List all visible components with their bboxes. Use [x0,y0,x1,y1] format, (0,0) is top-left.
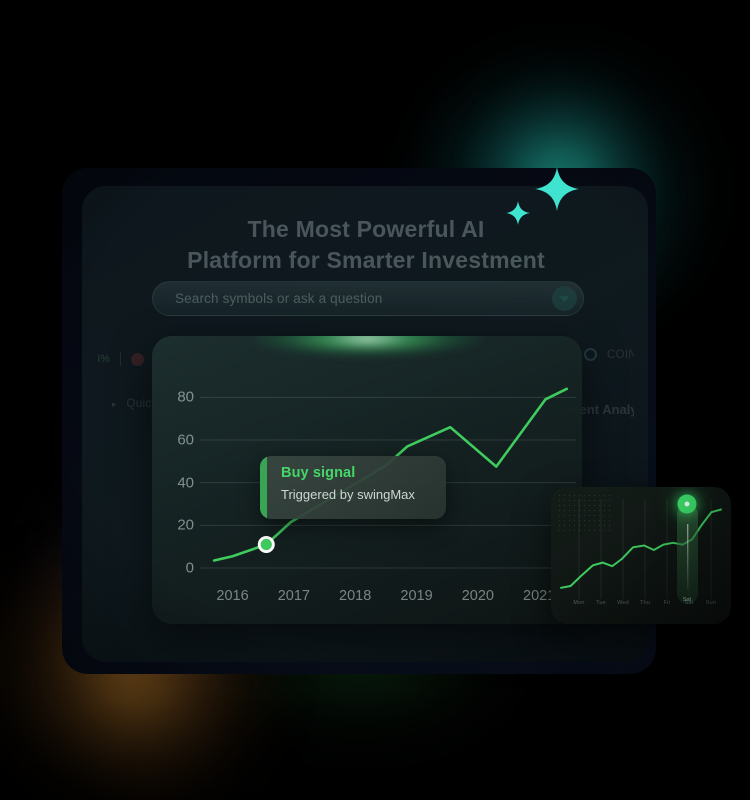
y-axis-tick: 0 [152,560,194,577]
mini-chart-day-label: Fri [663,600,670,606]
buy-signal-tooltip[interactable]: Buy signal Triggered by swingMax [260,456,446,519]
y-axis-tick: 20 [152,517,194,534]
sparkle-icon [533,165,581,213]
background-coin-icon [584,348,597,361]
slider-handle[interactable] [678,495,697,514]
slider-fill [687,524,689,590]
x-axis-tick: 2020 [462,588,494,604]
x-axis-tick: 2018 [339,588,371,604]
search-placeholder-text: Search symbols or ask a question [175,291,552,306]
tooltip-subtitle: Triggered by swingMax [281,487,415,502]
background-status-dot [131,353,144,366]
tooltip-title: Buy signal [281,465,415,481]
weekly-mini-card[interactable]: Sat MonTueWedThuFriSatSun [551,487,731,624]
x-axis-tick: 2016 [216,588,248,604]
day-slider-track[interactable] [677,504,698,604]
x-axis-tick: 2019 [400,588,432,604]
mini-chart-day-label: Wed [617,600,629,606]
page-title-line-1: The Most Powerful AI [98,214,634,245]
background-percent-badge: 4% [98,353,110,365]
chevron-down-icon[interactable] [552,286,577,311]
y-axis-tick: 80 [152,389,194,406]
x-axis-tick: 2017 [278,588,310,604]
y-axis-tick: 60 [152,432,194,449]
page-title: The Most Powerful AI Platform for Smarte… [98,214,634,275]
mini-chart-day-label: Mon [573,600,584,606]
mini-chart-day-label: Sat [685,600,694,606]
search-input[interactable]: Search symbols or ask a question [152,281,584,316]
page-title-line-2: Platform for Smarter Investment [98,245,634,276]
sparkle-icon [505,200,531,226]
background-divider [120,352,121,366]
screenshot-canvas: 4% ▸ Quick In COIN ment Analy The Most P… [0,0,750,800]
background-coin-label: COIN [607,349,634,361]
tooltip-accent-bar [260,456,267,519]
mini-chart-day-label: Tue [596,600,606,606]
mini-chart-day-label: Thu [640,600,650,606]
mini-chart-day-label: Sun [706,600,716,606]
background-caret-icon: ▸ [112,399,117,410]
y-axis-tick: 40 [152,474,194,491]
